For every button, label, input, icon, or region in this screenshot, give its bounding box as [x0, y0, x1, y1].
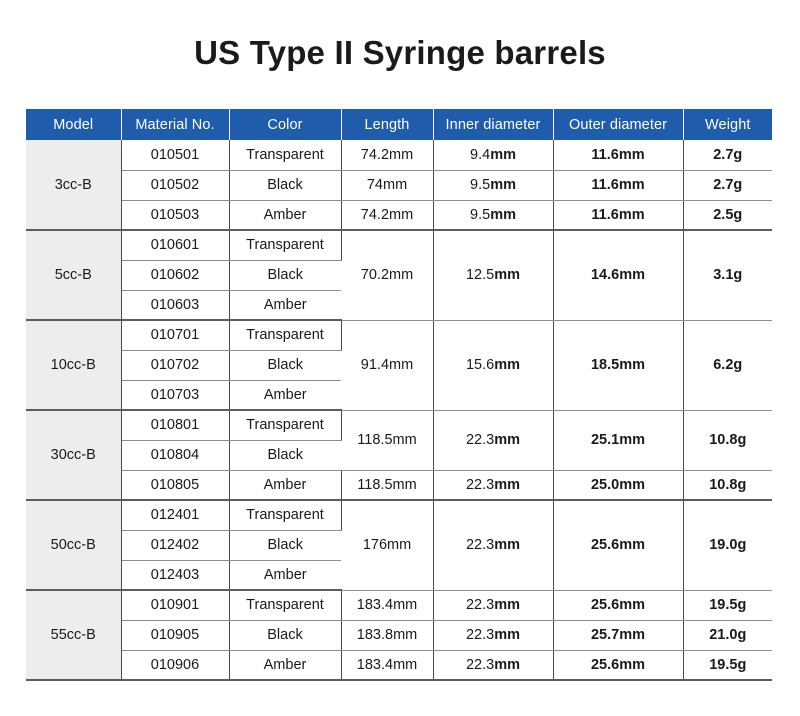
unit-label: mm — [383, 177, 407, 193]
cell-material-no: 010703 — [121, 380, 229, 410]
unit-label: mm — [490, 207, 516, 223]
cell-inner-diameter: 15.6mm — [433, 320, 553, 410]
cell-outer-diameter: 25.7mm — [553, 620, 683, 650]
table-body: 3cc-B010501Transparent74.2mm9.4mm11.6mm2… — [26, 140, 772, 680]
cell-color: Amber — [229, 560, 341, 590]
unit-label: mm — [494, 627, 520, 643]
cell-weight: 3.1g — [683, 230, 772, 320]
unit-label: g — [737, 597, 746, 613]
cell-outer-diameter: 25.1mm — [553, 410, 683, 470]
cell-material-no: 012402 — [121, 530, 229, 560]
unit-label: mm — [494, 357, 520, 373]
unit-label: mm — [619, 207, 645, 223]
cell-material-no: 010906 — [121, 650, 229, 680]
unit-label: g — [733, 147, 742, 163]
cell-length: 176mm — [341, 500, 433, 590]
table-row: 010503Amber74.2mm9.5mm11.6mm2.5g — [26, 200, 772, 230]
cell-material-no: 010602 — [121, 260, 229, 290]
column-header-inner-diameter: Inner diameter — [433, 109, 553, 140]
cell-length: 74.2mm — [341, 200, 433, 230]
cell-outer-diameter: 11.6mm — [553, 200, 683, 230]
cell-material-no: 012401 — [121, 500, 229, 530]
cell-weight: 2.5g — [683, 200, 772, 230]
cell-model: 55cc-B — [26, 590, 121, 680]
cell-outer-diameter: 14.6mm — [553, 230, 683, 320]
cell-inner-diameter: 12.5mm — [433, 230, 553, 320]
cell-model: 10cc-B — [26, 320, 121, 410]
table-header: Model Material No. Color Length Inner di… — [26, 109, 772, 140]
unit-label: mm — [490, 177, 516, 193]
cell-color: Black — [229, 260, 341, 290]
unit-label: mm — [619, 597, 645, 613]
cell-model: 5cc-B — [26, 230, 121, 320]
cell-color: Black — [229, 440, 341, 470]
unit-label: g — [737, 477, 746, 493]
unit-label: mm — [619, 537, 645, 553]
unit-label: mm — [389, 357, 413, 373]
cell-weight: 2.7g — [683, 170, 772, 200]
unit-label: mm — [619, 147, 645, 163]
cell-outer-diameter: 25.6mm — [553, 590, 683, 620]
cell-color: Amber — [229, 650, 341, 680]
cell-inner-diameter: 9.5mm — [433, 200, 553, 230]
unit-label: mm — [619, 357, 645, 373]
cell-outer-diameter: 11.6mm — [553, 170, 683, 200]
table-row: 3cc-B010501Transparent74.2mm9.4mm11.6mm2… — [26, 140, 772, 170]
unit-label: mm — [619, 177, 645, 193]
unit-label: mm — [619, 657, 645, 673]
table-row: 010906Amber183.4mm22.3mm25.6mm19.5g — [26, 650, 772, 680]
cell-outer-diameter: 25.6mm — [553, 500, 683, 590]
cell-color: Transparent — [229, 320, 341, 350]
cell-color: Black — [229, 530, 341, 560]
cell-material-no: 010502 — [121, 170, 229, 200]
table-row: 55cc-B010901Transparent183.4mm22.3mm25.6… — [26, 590, 772, 620]
table-header-row: Model Material No. Color Length Inner di… — [26, 109, 772, 140]
cell-length: 183.8mm — [341, 620, 433, 650]
unit-label: g — [733, 357, 742, 373]
table-row: 010905Black183.8mm22.3mm25.7mm21.0g — [26, 620, 772, 650]
cell-color: Amber — [229, 290, 341, 320]
column-header-weight: Weight — [683, 109, 772, 140]
unit-label: mm — [494, 597, 520, 613]
cell-material-no: 010702 — [121, 350, 229, 380]
page-root: US Type II Syringe barrels Model Materia… — [0, 0, 800, 716]
cell-material-no: 010901 — [121, 590, 229, 620]
column-header-model: Model — [26, 109, 121, 140]
unit-label: mm — [494, 432, 520, 448]
unit-label: g — [733, 207, 742, 223]
table-row: 010805Amber118.5mm22.3mm25.0mm10.8g — [26, 470, 772, 500]
cell-model: 50cc-B — [26, 500, 121, 590]
unit-label: g — [733, 267, 742, 283]
unit-label: mm — [393, 597, 417, 613]
unit-label: mm — [393, 627, 417, 643]
cell-length: 118.5mm — [341, 410, 433, 470]
cell-inner-diameter: 22.3mm — [433, 620, 553, 650]
unit-label: mm — [619, 432, 645, 448]
cell-material-no: 010905 — [121, 620, 229, 650]
cell-inner-diameter: 22.3mm — [433, 410, 553, 470]
cell-model: 30cc-B — [26, 410, 121, 500]
unit-label: mm — [387, 537, 411, 553]
cell-weight: 21.0g — [683, 620, 772, 650]
unit-label: mm — [389, 207, 413, 223]
table-row: 010502Black74mm9.5mm11.6mm2.7g — [26, 170, 772, 200]
cell-material-no: 010503 — [121, 200, 229, 230]
cell-material-no: 012403 — [121, 560, 229, 590]
page-title: US Type II Syringe barrels — [0, 33, 800, 73]
cell-color: Amber — [229, 470, 341, 500]
cell-length: 118.5mm — [341, 470, 433, 500]
cell-inner-diameter: 22.3mm — [433, 590, 553, 620]
unit-label: g — [737, 627, 746, 643]
cell-color: Black — [229, 170, 341, 200]
cell-length: 74mm — [341, 170, 433, 200]
unit-label: mm — [393, 657, 417, 673]
unit-label: mm — [393, 432, 417, 448]
unit-label: mm — [619, 267, 645, 283]
cell-inner-diameter: 22.3mm — [433, 470, 553, 500]
cell-length: 70.2mm — [341, 230, 433, 320]
cell-length: 74.2mm — [341, 140, 433, 170]
cell-material-no: 010603 — [121, 290, 229, 320]
unit-label: mm — [389, 267, 413, 283]
table-row: 50cc-B012401Transparent176mm22.3mm25.6mm… — [26, 500, 772, 530]
cell-inner-diameter: 22.3mm — [433, 500, 553, 590]
cell-color: Transparent — [229, 230, 341, 260]
cell-length: 91.4mm — [341, 320, 433, 410]
table-row: 10cc-B010701Transparent91.4mm15.6mm18.5m… — [26, 320, 772, 350]
column-header-length: Length — [341, 109, 433, 140]
table-row: 5cc-B010601Transparent70.2mm12.5mm14.6mm… — [26, 230, 772, 260]
unit-label: mm — [393, 477, 417, 493]
cell-inner-diameter: 9.4mm — [433, 140, 553, 170]
unit-label: mm — [619, 477, 645, 493]
column-header-color: Color — [229, 109, 341, 140]
table-row: 30cc-B010801Transparent118.5mm22.3mm25.1… — [26, 410, 772, 440]
cell-color: Transparent — [229, 500, 341, 530]
cell-color: Transparent — [229, 590, 341, 620]
cell-inner-diameter: 22.3mm — [433, 650, 553, 680]
cell-material-no: 010801 — [121, 410, 229, 440]
cell-weight: 2.7g — [683, 140, 772, 170]
cell-outer-diameter: 18.5mm — [553, 320, 683, 410]
unit-label: mm — [619, 627, 645, 643]
cell-outer-diameter: 25.6mm — [553, 650, 683, 680]
column-header-material-no: Material No. — [121, 109, 229, 140]
cell-length: 183.4mm — [341, 650, 433, 680]
unit-label: mm — [389, 147, 413, 163]
unit-label: mm — [494, 267, 520, 283]
cell-material-no: 010805 — [121, 470, 229, 500]
cell-color: Transparent — [229, 140, 341, 170]
unit-label: mm — [494, 477, 520, 493]
column-header-outer-diameter: Outer diameter — [553, 109, 683, 140]
cell-color: Amber — [229, 200, 341, 230]
cell-weight: 19.0g — [683, 500, 772, 590]
cell-weight: 19.5g — [683, 590, 772, 620]
cell-color: Transparent — [229, 410, 341, 440]
cell-color: Amber — [229, 380, 341, 410]
cell-color: Black — [229, 620, 341, 650]
unit-label: g — [737, 432, 746, 448]
cell-weight: 6.2g — [683, 320, 772, 410]
unit-label: mm — [490, 147, 516, 163]
cell-model: 3cc-B — [26, 140, 121, 230]
unit-label: mm — [494, 657, 520, 673]
unit-label: g — [737, 537, 746, 553]
cell-outer-diameter: 11.6mm — [553, 140, 683, 170]
cell-material-no: 010601 — [121, 230, 229, 260]
syringe-spec-table-container: Model Material No. Color Length Inner di… — [26, 109, 772, 681]
cell-weight: 19.5g — [683, 650, 772, 680]
cell-outer-diameter: 25.0mm — [553, 470, 683, 500]
cell-color: Black — [229, 350, 341, 380]
cell-material-no: 010804 — [121, 440, 229, 470]
syringe-spec-table: Model Material No. Color Length Inner di… — [26, 109, 772, 681]
unit-label: g — [737, 657, 746, 673]
cell-material-no: 010501 — [121, 140, 229, 170]
cell-material-no: 010701 — [121, 320, 229, 350]
unit-label: mm — [494, 537, 520, 553]
cell-weight: 10.8g — [683, 410, 772, 470]
cell-inner-diameter: 9.5mm — [433, 170, 553, 200]
cell-weight: 10.8g — [683, 470, 772, 500]
unit-label: g — [733, 177, 742, 193]
cell-length: 183.4mm — [341, 590, 433, 620]
